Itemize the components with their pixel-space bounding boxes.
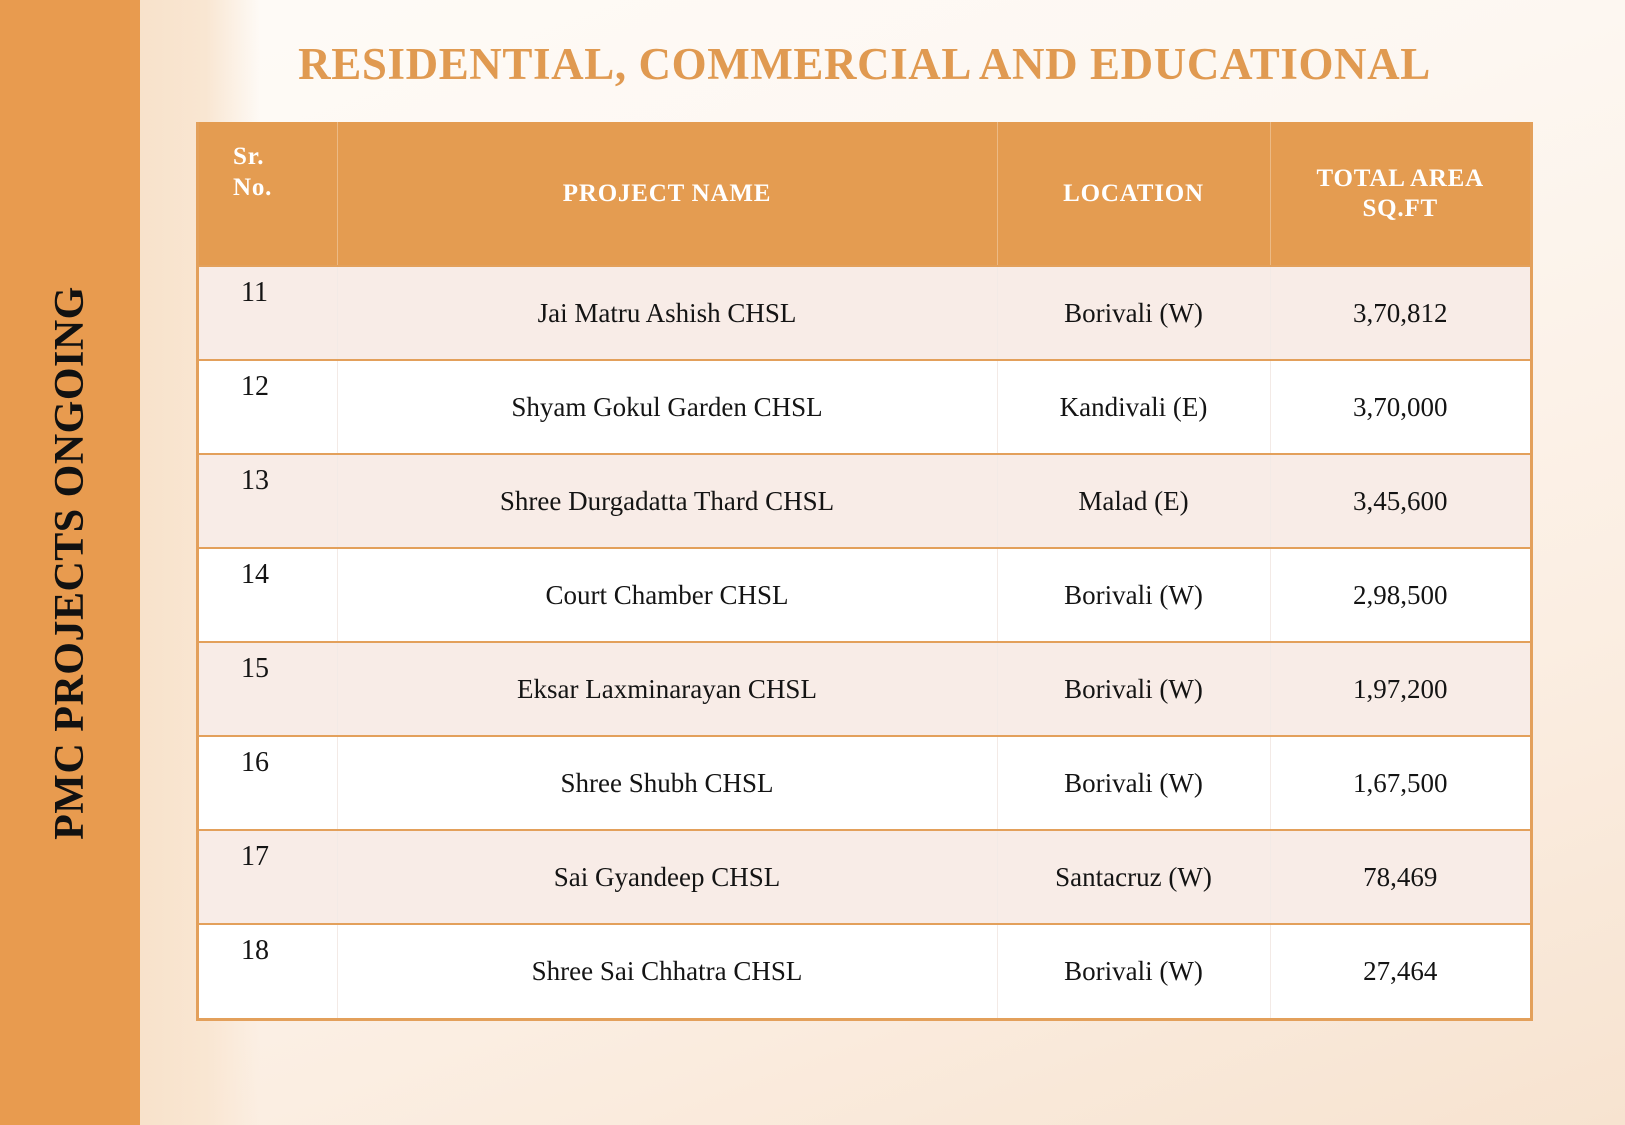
sr-no-line1: Sr. <box>233 143 264 170</box>
column-header-sr-no: Sr. No. <box>199 122 337 266</box>
cell-project-name: Shree Sai Chhatra CHSL <box>337 924 997 1018</box>
table-row: 13Shree Durgadatta Thard CHSLMalad (E)3,… <box>199 454 1530 548</box>
cell-total-area: 3,70,812 <box>1270 266 1530 360</box>
cell-location: Kandivali (E) <box>997 360 1270 454</box>
cell-project-name: Shree Shubh CHSL <box>337 736 997 830</box>
table-header: Sr. No. PROJECT NAME LOCATION TOTAL AREA… <box>199 122 1530 266</box>
projects-table-container: Sr. No. PROJECT NAME LOCATION TOTAL AREA… <box>196 122 1533 1021</box>
sidebar-title-vertical: PMC PROJECTS ONGOING <box>46 286 94 840</box>
table-row: 14Court Chamber CHSLBorivali (W)2,98,500 <box>199 548 1530 642</box>
column-header-project-name: PROJECT NAME <box>337 122 997 266</box>
cell-sr-no: 16 <box>199 736 337 830</box>
slide-canvas: PMC PROJECTS ONGOING RESIDENTIAL, COMMER… <box>0 0 1625 1125</box>
cell-location: Borivali (W) <box>997 266 1270 360</box>
total-area-line2: SQ.FT <box>1362 195 1438 222</box>
column-header-location: LOCATION <box>997 122 1270 266</box>
cell-location: Borivali (W) <box>997 642 1270 736</box>
cell-sr-no: 14 <box>199 548 337 642</box>
cell-sr-no: 12 <box>199 360 337 454</box>
cell-project-name: Sai Gyandeep CHSL <box>337 830 997 924</box>
cell-project-name: Shyam Gokul Garden CHSL <box>337 360 997 454</box>
projects-table: Sr. No. PROJECT NAME LOCATION TOTAL AREA… <box>199 122 1530 1018</box>
table-header-row: Sr. No. PROJECT NAME LOCATION TOTAL AREA… <box>199 122 1530 266</box>
cell-total-area: 3,70,000 <box>1270 360 1530 454</box>
cell-total-area: 2,98,500 <box>1270 548 1530 642</box>
cell-sr-no: 15 <box>199 642 337 736</box>
total-area-line1: TOTAL AREA <box>1316 165 1484 192</box>
cell-location: Malad (E) <box>997 454 1270 548</box>
cell-sr-no: 18 <box>199 924 337 1018</box>
cell-location: Borivali (W) <box>997 736 1270 830</box>
cell-total-area: 3,45,600 <box>1270 454 1530 548</box>
table-body: 11Jai Matru Ashish CHSLBorivali (W)3,70,… <box>199 266 1530 1018</box>
cell-project-name: Shree Durgadatta Thard CHSL <box>337 454 997 548</box>
cell-sr-no: 11 <box>199 266 337 360</box>
cell-location: Santacruz (W) <box>997 830 1270 924</box>
page-title: RESIDENTIAL, COMMERCIAL AND EDUCATIONAL <box>196 38 1533 90</box>
cell-total-area: 27,464 <box>1270 924 1530 1018</box>
cell-total-area: 1,67,500 <box>1270 736 1530 830</box>
table-row: 16Shree Shubh CHSLBorivali (W)1,67,500 <box>199 736 1530 830</box>
cell-total-area: 1,97,200 <box>1270 642 1530 736</box>
table-row: 18Shree Sai Chhatra CHSLBorivali (W)27,4… <box>199 924 1530 1018</box>
cell-location: Borivali (W) <box>997 924 1270 1018</box>
table-row: 17Sai Gyandeep CHSLSantacruz (W)78,469 <box>199 830 1530 924</box>
cell-project-name: Court Chamber CHSL <box>337 548 997 642</box>
cell-location: Borivali (W) <box>997 548 1270 642</box>
cell-project-name: Eksar Laxminarayan CHSL <box>337 642 997 736</box>
table-row: 12Shyam Gokul Garden CHSLKandivali (E)3,… <box>199 360 1530 454</box>
cell-total-area: 78,469 <box>1270 830 1530 924</box>
cell-project-name: Jai Matru Ashish CHSL <box>337 266 997 360</box>
table-row: 11Jai Matru Ashish CHSLBorivali (W)3,70,… <box>199 266 1530 360</box>
cell-sr-no: 13 <box>199 454 337 548</box>
cell-sr-no: 17 <box>199 830 337 924</box>
column-header-total-area: TOTAL AREA SQ.FT <box>1270 122 1530 266</box>
sr-no-line2: No. <box>233 174 272 201</box>
table-row: 15Eksar Laxminarayan CHSLBorivali (W)1,9… <box>199 642 1530 736</box>
sidebar-banner: PMC PROJECTS ONGOING <box>0 0 140 1125</box>
